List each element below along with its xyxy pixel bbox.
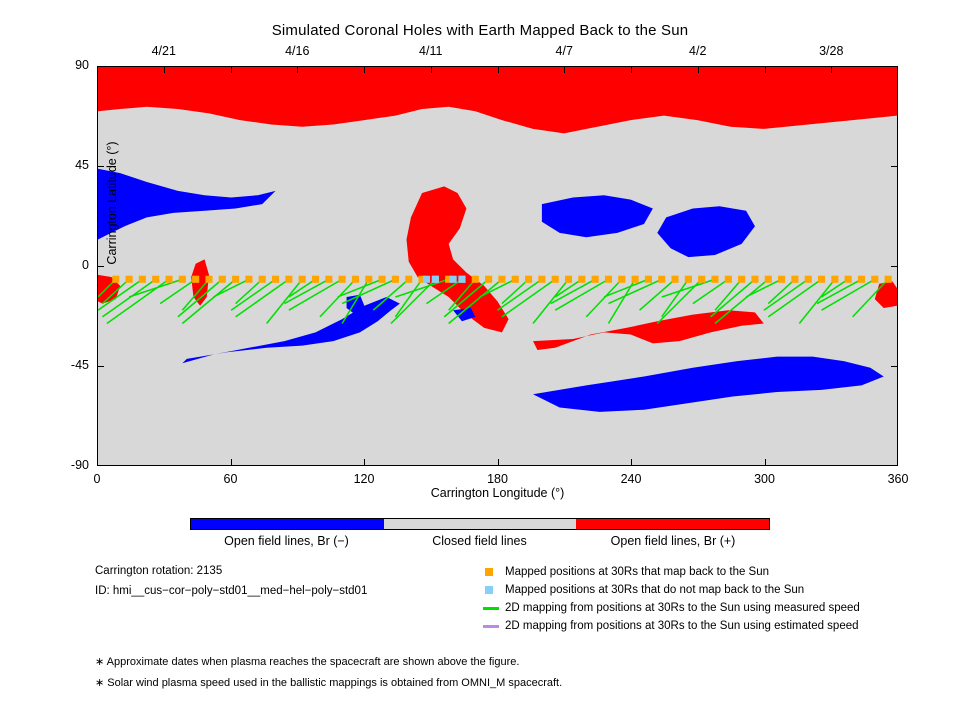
- top-axis-date-label: 4/2: [658, 44, 738, 58]
- y-tick-mark-right: [891, 266, 898, 267]
- mapped-position-marker: [658, 276, 665, 283]
- unmapped-position-marker: [432, 276, 439, 283]
- mapped-position-markers: [112, 276, 891, 283]
- legend-square-glyph: [485, 568, 493, 576]
- x-tick-label: 180: [468, 472, 528, 486]
- mapped-position-marker: [165, 276, 172, 283]
- x-axis-title: Carrington Longitude (°): [97, 486, 898, 500]
- mapped-position-marker: [645, 276, 652, 283]
- top-axis-tick-mark: [231, 66, 232, 73]
- footnote-dates: ∗ Approximate dates when plasma reaches …: [95, 655, 519, 668]
- top-axis-tick-mark: [698, 66, 699, 73]
- unmapped-position-marker: [450, 276, 457, 283]
- top-axis-tick-mark: [164, 66, 165, 73]
- negative-polarity-regions: [98, 169, 884, 412]
- legend-line-icon: [483, 617, 501, 635]
- top-axis-tick-mark: [564, 66, 565, 73]
- top-axis-tick-mark: [631, 66, 632, 73]
- legend-square-icon: [483, 581, 501, 599]
- mapped-position-marker: [392, 276, 399, 283]
- legend-label: Mapped positions at 30Rs that map back t…: [505, 563, 769, 581]
- x-tick-label: 360: [868, 472, 928, 486]
- top-axis-tick-mark: [297, 66, 298, 73]
- y-tick-label: -90: [39, 458, 89, 472]
- mapped-position-marker: [405, 276, 412, 283]
- top-axis-date-label: 4/11: [391, 44, 471, 58]
- legend-line-glyph: [483, 625, 499, 628]
- mapped-position-marker: [831, 276, 838, 283]
- mapped-position-marker: [379, 276, 386, 283]
- legend-line-glyph: [483, 607, 499, 610]
- polarity-colorbar: [190, 518, 770, 530]
- mapped-position-marker: [325, 276, 332, 283]
- mapped-position-marker: [672, 276, 679, 283]
- y-tick-label: 45: [39, 158, 89, 172]
- colorbar-label-closed: Closed field lines: [383, 534, 576, 548]
- negative-region-south-hole-70-130: [182, 297, 400, 363]
- mapped-position-marker: [552, 276, 559, 283]
- mapped-position-marker: [472, 276, 479, 283]
- colorbar-segment-closed: [384, 519, 577, 529]
- x-tick-label: 240: [601, 472, 661, 486]
- positive-region-southern-equatorial-band-260: [533, 310, 764, 350]
- mapped-position-marker: [765, 276, 772, 283]
- mapped-position-marker: [205, 276, 212, 283]
- y-tick-label: -45: [39, 358, 89, 372]
- top-axis-date-label: 4/16: [257, 44, 337, 58]
- positive-region-north-polar-coronal-hole: [98, 67, 897, 133]
- mapping-line: [498, 279, 542, 310]
- mapped-position-marker: [485, 276, 492, 283]
- mapped-position-marker: [632, 276, 639, 283]
- top-axis-tick-mark: [364, 66, 365, 73]
- y-tick-label: 90: [39, 58, 89, 72]
- mapped-position-marker: [818, 276, 825, 283]
- top-axis-date-label: 4/21: [124, 44, 204, 58]
- mapped-position-marker: [871, 276, 878, 283]
- mapped-position-marker: [858, 276, 865, 283]
- figure-title: Simulated Coronal Holes with Earth Mappe…: [0, 22, 960, 39]
- mapped-position-marker: [365, 276, 372, 283]
- colorbar-segment-negative: [191, 519, 384, 529]
- y-tick-mark-right: [891, 366, 898, 367]
- x-tick-label: 120: [334, 472, 394, 486]
- mapped-position-marker: [219, 276, 226, 283]
- x-tick-label: 300: [735, 472, 795, 486]
- x-tick-mark: [631, 459, 632, 466]
- mapped-position-marker: [152, 276, 159, 283]
- legend-line-icon: [483, 599, 501, 617]
- mapped-position-marker: [791, 276, 798, 283]
- y-tick-label: 0: [39, 258, 89, 272]
- x-tick-label: 60: [201, 472, 261, 486]
- mapped-position-marker: [578, 276, 585, 283]
- colorbar-segment-positive: [576, 519, 769, 529]
- top-axis-date-label: 4/7: [524, 44, 604, 58]
- top-axis-tick-mark: [765, 66, 766, 73]
- mapping-line: [267, 279, 303, 323]
- mapped-position-marker: [885, 276, 892, 283]
- mapped-position-marker: [538, 276, 545, 283]
- mapped-position-marker: [845, 276, 852, 283]
- legend-label: Mapped positions at 30Rs that do not map…: [505, 581, 804, 599]
- carrington-rotation-label: Carrington rotation: 2135: [95, 565, 222, 577]
- top-axis-date-label: 3/28: [791, 44, 871, 58]
- mapped-position-marker: [805, 276, 812, 283]
- mapped-position-marker: [751, 276, 758, 283]
- mapped-position-marker: [512, 276, 519, 283]
- legend-square-glyph: [485, 586, 493, 594]
- negative-region-south-polar-large-hole: [533, 357, 884, 412]
- mapping-line: [289, 279, 342, 310]
- mapped-position-marker: [685, 276, 692, 283]
- mapped-position-marker: [192, 276, 199, 283]
- legend-label: 2D mapping from positions at 30Rs to the…: [505, 599, 860, 617]
- mapping-line: [799, 279, 835, 323]
- mapping-line: [395, 279, 422, 317]
- legend-square-icon: [483, 563, 501, 581]
- negative-region-north-mid-latitude-hole-20: [98, 169, 276, 240]
- figure-canvas: Simulated Coronal Holes with Earth Mappe…: [0, 0, 960, 720]
- mapped-position-marker: [259, 276, 266, 283]
- mapped-position-marker: [352, 276, 359, 283]
- x-tick-mark: [765, 459, 766, 466]
- colorbar-label-negative: Open field lines, Br (−): [190, 534, 383, 548]
- unmapped-position-marker: [423, 276, 430, 283]
- mapped-position-marker: [299, 276, 306, 283]
- y-axis-title: Carrington Latitude (°): [105, 83, 119, 323]
- unmapped-position-marker: [458, 276, 465, 283]
- mapped-position-marker: [139, 276, 146, 283]
- negative-region-north-hole-220: [542, 195, 653, 237]
- y-tick-mark: [97, 266, 104, 267]
- mapped-position-marker: [565, 276, 572, 283]
- mapping-line: [502, 279, 555, 317]
- mapped-position-marker: [232, 276, 239, 283]
- mapped-position-marker: [525, 276, 532, 283]
- mapped-position-marker: [272, 276, 279, 283]
- mapped-position-marker: [778, 276, 785, 283]
- x-tick-mark: [498, 459, 499, 466]
- coronal-hole-map: [97, 66, 898, 466]
- mapped-position-marker: [618, 276, 625, 283]
- mapping-line: [533, 279, 569, 323]
- mapping-line: [768, 279, 821, 317]
- colorbar-label-positive: Open field lines, Br (+): [576, 534, 770, 548]
- legend-label: 2D mapping from positions at 30Rs to the…: [505, 617, 859, 635]
- footnote-speed: ∗ Solar wind plasma speed used in the ba…: [95, 676, 562, 689]
- top-axis-tick-mark: [831, 66, 832, 73]
- mapped-position-marker: [179, 276, 186, 283]
- mapping-line: [822, 279, 875, 310]
- y-tick-mark: [97, 166, 104, 167]
- mapping-line: [236, 279, 289, 317]
- mapping-line: [231, 279, 275, 310]
- positive-region-right-edge-equatorial-blob: [875, 281, 897, 308]
- mapped-position-marker: [312, 276, 319, 283]
- mapping-line: [662, 279, 689, 317]
- mapped-position-marker: [738, 276, 745, 283]
- coronal-hole-map-svg: [98, 67, 897, 465]
- mapped-position-marker: [698, 276, 705, 283]
- mapped-position-marker: [605, 276, 612, 283]
- top-axis-tick-mark: [431, 66, 432, 73]
- mapped-position-marker: [126, 276, 133, 283]
- model-id-label: ID: hmi__cus−cor−poly−std01__med−hel−pol…: [95, 585, 367, 597]
- mapping-line: [555, 279, 608, 310]
- mapped-position-marker: [498, 276, 505, 283]
- mapped-position-marker: [245, 276, 252, 283]
- negative-region-north-hole-270: [657, 206, 755, 257]
- y-tick-mark-right: [891, 166, 898, 167]
- x-tick-mark: [364, 459, 365, 466]
- y-tick-mark: [97, 366, 104, 367]
- x-tick-label: 0: [67, 472, 127, 486]
- mapped-position-marker: [285, 276, 292, 283]
- mapped-position-marker: [339, 276, 346, 283]
- mapping-line: [764, 279, 808, 310]
- mapped-position-marker: [725, 276, 732, 283]
- mapped-position-marker: [592, 276, 599, 283]
- x-tick-mark: [231, 459, 232, 466]
- top-axis-tick-mark: [498, 66, 499, 73]
- mapped-position-marker: [711, 276, 718, 283]
